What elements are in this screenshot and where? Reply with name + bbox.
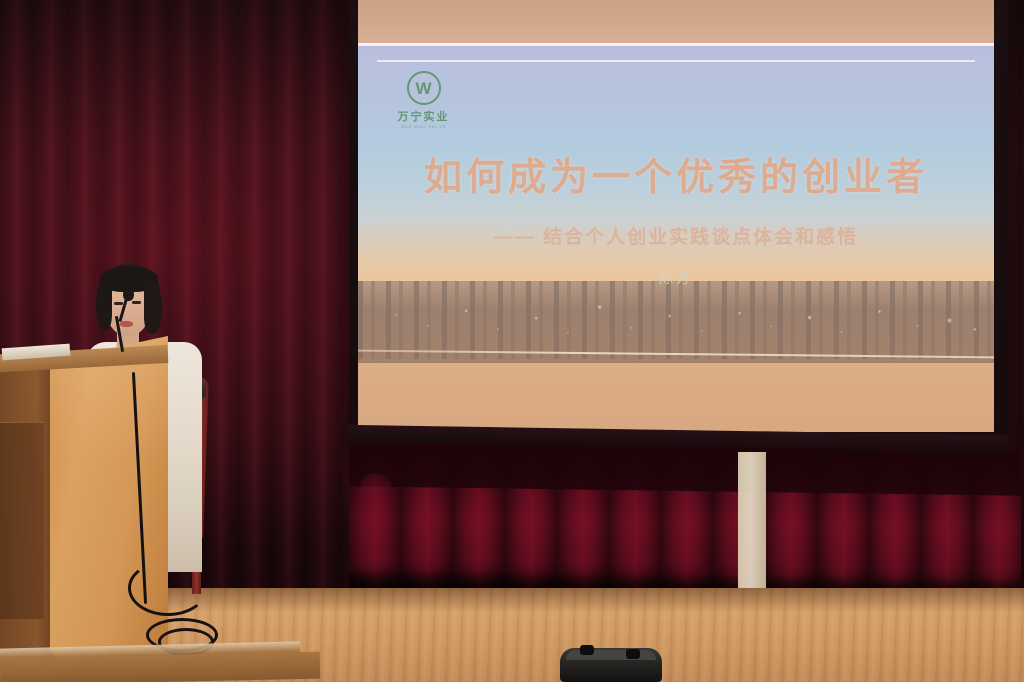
slide-title: 如何成为一个优秀的创业者 [358,146,994,201]
speaker-eye-right [132,301,141,304]
projector-spill-band [358,0,994,45]
speaker-hair-right [144,282,162,334]
audio-cable-curve [128,560,208,616]
screen-support-leg [738,452,766,594]
stage-monitor-clip-right [626,649,640,659]
podium-side-inset [0,422,44,619]
skirt-top-shadow [349,442,1021,495]
logo-company-pinyin: WAN NING SHI YE [389,125,459,129]
speaker-hair-left [96,282,112,330]
microphone-head-icon [123,288,134,301]
slide-presenter-name: 陈芳 [358,268,994,288]
screen-surface: W 万宁实业 WAN NING SHI YE 如何成为一个优秀的创业者 —— 结… [358,0,994,432]
logo-company-name: 万宁实业 [389,108,459,124]
presentation-photo-scene: W 万宁实业 WAN NING SHI YE 如何成为一个优秀的创业者 —— 结… [0,0,1024,682]
logo-w-icon: W [407,71,441,105]
speaker-lips [120,321,133,327]
slide-content: W 万宁实业 WAN NING SHI YE 如何成为一个优秀的创业者 —— 结… [358,46,994,432]
stage-curtain-skirt [349,442,1021,597]
slide-subtitle: —— 结合个人创业实践谈点体会和感悟 [358,222,994,249]
projection-screen: W 万宁实业 WAN NING SHI YE 如何成为一个优秀的创业者 —— 结… [349,0,1008,453]
stage-monitor-clip-left [580,645,594,655]
speaker-eye-left [114,302,123,305]
company-logo: W 万宁实业 WAN NING SHI YE [389,71,459,129]
